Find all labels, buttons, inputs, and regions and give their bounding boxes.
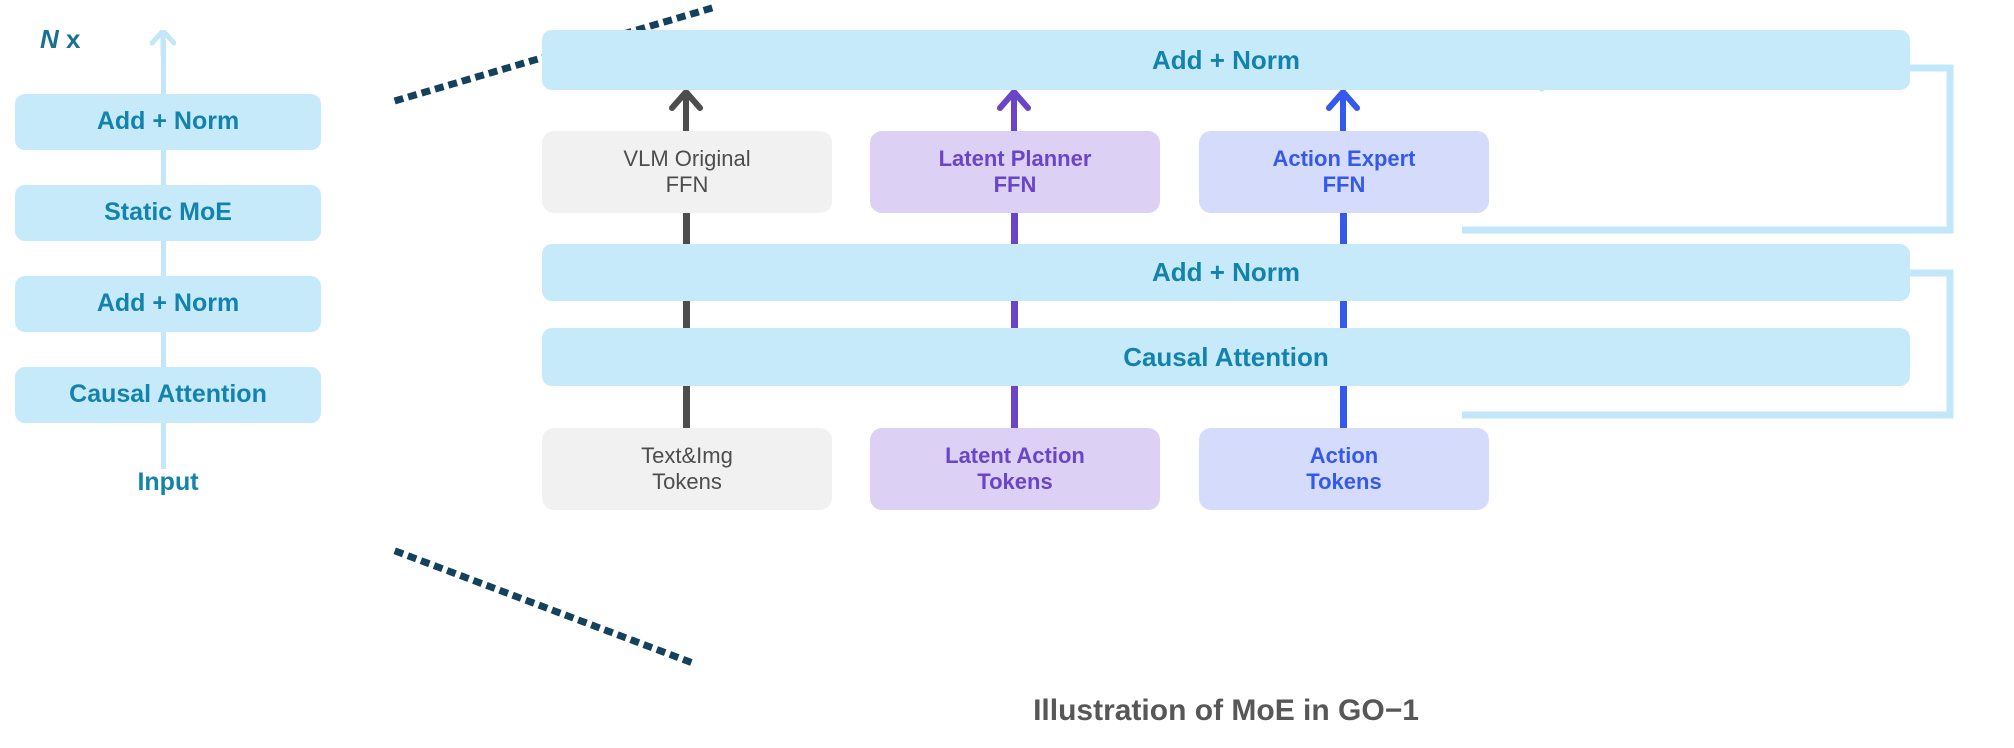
token-box-action[interactable]: Action Tokens xyxy=(1199,428,1489,510)
left-block-static-moe[interactable]: Static MoE xyxy=(15,185,321,241)
repeat-count-n: N xyxy=(40,24,59,54)
arrow-vlm-ffn-up-icon xyxy=(669,88,703,136)
connector-latent-addnorm-to-attention xyxy=(1011,300,1018,330)
arrow-latent-ffn-up-icon xyxy=(997,88,1031,136)
connector-latent-attention-to-tokens xyxy=(1011,385,1018,430)
input-label: Input xyxy=(15,468,321,497)
right-bar-causal-attention[interactable]: Causal Attention xyxy=(542,328,1910,386)
connector-vlm-ffn-to-addnorm xyxy=(683,210,690,248)
connector-vlm-addnorm-to-attention xyxy=(683,300,690,330)
ffn-box-vlm-original[interactable]: VLM Original FFN xyxy=(542,131,832,213)
connector-vlm-attention-to-tokens xyxy=(683,385,690,430)
left-flow-arrowhead-icon xyxy=(150,30,176,56)
connector-action-addnorm-to-attention xyxy=(1340,300,1347,330)
token-box-text-img[interactable]: Text&Img Tokens xyxy=(542,428,832,510)
ffn-box-action-expert[interactable]: Action Expert FFN xyxy=(1199,131,1489,213)
left-block-add-norm-bottom[interactable]: Add + Norm xyxy=(15,276,321,332)
figure-canvas: N x Add + Norm Static MoE Add + Norm Cau… xyxy=(0,0,2014,748)
figure-caption: Illustration of MoE in GO−1 xyxy=(542,694,1910,728)
connector-action-attention-to-tokens xyxy=(1340,385,1347,430)
right-bar-add-norm-mid[interactable]: Add + Norm xyxy=(542,244,1910,301)
right-bar-add-norm-top[interactable]: Add + Norm xyxy=(542,30,1910,90)
token-box-latent-action[interactable]: Latent Action Tokens xyxy=(870,428,1160,510)
repeat-count-label: N x xyxy=(40,24,80,55)
connector-action-ffn-to-addnorm xyxy=(1340,210,1347,248)
left-block-add-norm-top[interactable]: Add + Norm xyxy=(15,94,321,150)
repeat-count-x: x xyxy=(59,24,81,54)
arrow-action-ffn-up-icon xyxy=(1326,88,1360,136)
dotted-connector-bottom xyxy=(390,540,720,670)
left-block-causal-attention[interactable]: Causal Attention xyxy=(15,367,321,423)
connector-latent-ffn-to-addnorm xyxy=(1011,210,1018,248)
ffn-box-latent-planner[interactable]: Latent Planner FFN xyxy=(870,131,1160,213)
